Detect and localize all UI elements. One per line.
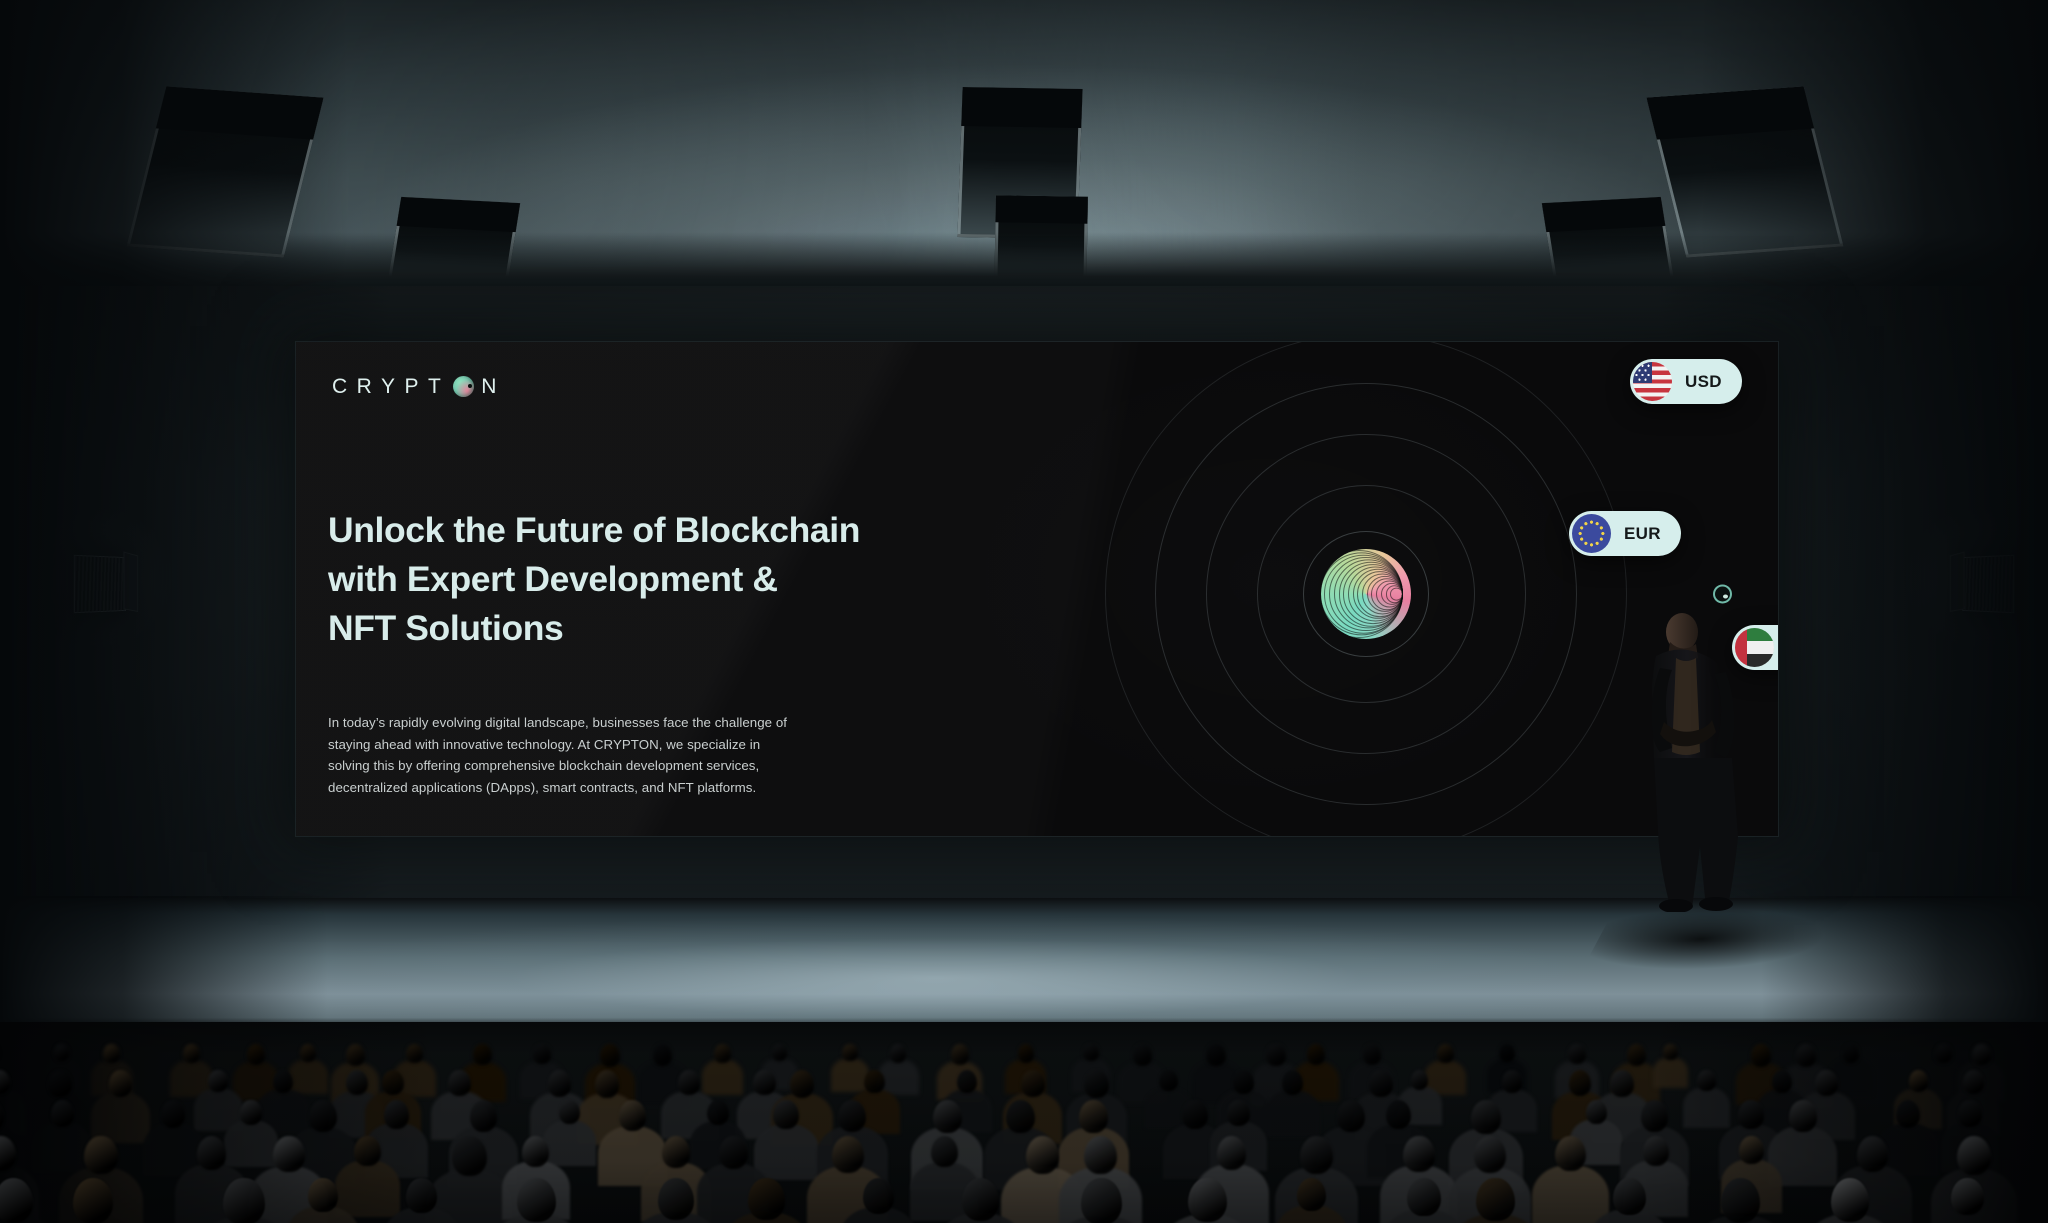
us-flag-icon [1633, 362, 1672, 401]
audience-member-head [1337, 1100, 1365, 1132]
audience-member-head [1627, 1044, 1646, 1066]
audience-member-head [753, 1070, 775, 1095]
audience-member-head [678, 1070, 700, 1095]
audience-member-head [662, 1136, 690, 1168]
audience-member-head [1282, 1070, 1304, 1095]
audience-member-head [1789, 1100, 1817, 1132]
ceiling-vignette [0, 0, 2048, 292]
audience-member-head [1663, 1044, 1677, 1060]
audience-member-head [1958, 1100, 1981, 1127]
audience-member-head [1188, 1178, 1227, 1222]
audience-member-head [1474, 1136, 1507, 1173]
audience-member-head [1437, 1044, 1454, 1063]
audience-member-head [308, 1178, 338, 1212]
audience-member-head [1386, 1100, 1411, 1129]
audience-member-head [1499, 1044, 1515, 1062]
orb-eye-dot [1715, 587, 1730, 602]
currency-badge-label: EUR [1624, 525, 1661, 542]
logo-text-right: N [481, 376, 506, 397]
audience-member-head [346, 1044, 365, 1066]
audience-member-head [223, 1178, 264, 1223]
audience-member-head [619, 1100, 647, 1131]
audience-member-head [842, 1044, 857, 1061]
audience-member-head [406, 1178, 437, 1213]
audience-member-head [1972, 1044, 1991, 1065]
audience-member-head [73, 1178, 114, 1223]
audience-member-head [1738, 1100, 1764, 1129]
audience-member-head [1159, 1070, 1178, 1091]
audience-member-head [1586, 1100, 1607, 1124]
audience-member-head [1084, 1136, 1117, 1174]
audience-member-head [595, 1070, 619, 1098]
audience-member-head [54, 1044, 69, 1061]
audience-member-head [933, 1100, 962, 1133]
audience-member-head [832, 1136, 864, 1173]
audience-member-head [719, 1136, 748, 1169]
audience-member-head [183, 1044, 200, 1063]
audience-member-head [273, 1070, 294, 1093]
audience-member-head [1796, 1044, 1816, 1067]
currency-badge-usd[interactable]: USD [1630, 359, 1742, 404]
audience-member-head [48, 1070, 71, 1097]
audience-member-head [522, 1136, 549, 1167]
audience-member-head [161, 1100, 185, 1128]
audience-member-head [470, 1100, 498, 1132]
audience-member-head [962, 1178, 999, 1221]
audience-member-head [890, 1044, 907, 1063]
audience-member-head [1857, 1136, 1888, 1172]
audience-member-head [1643, 1136, 1669, 1166]
audience-member-head [773, 1100, 799, 1129]
audience-member-head [452, 1136, 487, 1176]
audience-member-head [772, 1044, 787, 1061]
audience-member-head [1403, 1136, 1434, 1172]
audience-member-head [1568, 1044, 1586, 1064]
logo-text-left: CRYPT [332, 376, 450, 397]
audience-member-head [1081, 1178, 1122, 1223]
audience-member-head [517, 1178, 556, 1222]
audience-member-head [864, 1070, 885, 1093]
audience-member-head [1407, 1178, 1441, 1216]
audience-member-head [406, 1044, 423, 1063]
audience-member-head [1018, 1044, 1034, 1063]
audience-member-head [1610, 1070, 1634, 1097]
audience-member-head [1555, 1136, 1586, 1171]
audience-member-head [1843, 1044, 1860, 1063]
audience-member-head [1217, 1136, 1247, 1170]
audience-member-head [84, 1136, 117, 1174]
audience-member-head [1963, 1070, 1984, 1094]
audience-member-head [658, 1178, 695, 1220]
audience-member-head [1182, 1100, 1208, 1129]
audience-member-head [951, 1044, 969, 1065]
crypton-logo[interactable]: CRYPT N [332, 376, 506, 397]
audience-member-head [600, 1044, 620, 1067]
audience-member-head [240, 1100, 262, 1125]
audience-member-head [1233, 1070, 1254, 1094]
audience-member-head [1083, 1044, 1098, 1061]
audience-member-head [863, 1178, 894, 1214]
audience-member-head [273, 1136, 305, 1172]
audience [0, 1022, 2048, 1223]
audience-member-head [1502, 1070, 1522, 1093]
audience-member-head [1896, 1100, 1921, 1128]
headline-line-2: with Expert Development & [328, 555, 1018, 604]
gradient-sphere-icon [453, 376, 474, 397]
audience-member-head [559, 1100, 580, 1124]
audience-member-head [1739, 1136, 1764, 1164]
audience-member-head [1909, 1070, 1928, 1092]
audience-member-head [1133, 1044, 1152, 1066]
currency-badge-eur[interactable]: EUR [1569, 511, 1681, 556]
audience-member-head [1569, 1070, 1592, 1096]
audience-member-head [1300, 1136, 1333, 1174]
stage-floor-vignette [0, 896, 2048, 1030]
presenter-silhouette [1640, 612, 1750, 912]
currency-badge-label: USD [1685, 373, 1722, 390]
audience-member-head [957, 1070, 977, 1093]
audience-member-head [300, 1044, 316, 1062]
audience-member-head [51, 1100, 74, 1127]
audience-member-head [838, 1100, 866, 1132]
slide-body-text: In today’s rapidly evolving digital land… [328, 712, 798, 798]
audience-member-head [197, 1136, 227, 1170]
currency-orbit-diagram: USDGBPEURCHUAE [996, 342, 1736, 836]
audience-member-head [247, 1044, 265, 1065]
audience-member-head [714, 1044, 731, 1063]
audience-member-head [346, 1070, 368, 1095]
audience-member-head [1772, 1070, 1792, 1093]
audience-member-head [1369, 1070, 1393, 1097]
audience-member-head [1721, 1178, 1761, 1223]
audience-member-head [1935, 1044, 1952, 1063]
audience-member-head [1831, 1178, 1870, 1222]
audience-member-head [1613, 1178, 1646, 1215]
audience-member-head [1079, 1100, 1108, 1133]
audience-member-head [1006, 1100, 1035, 1133]
audience-member-head [354, 1136, 380, 1166]
headline-line-3: NFT Solutions [328, 604, 1018, 653]
audience-member-head [1641, 1100, 1669, 1132]
audience-member-head [707, 1100, 729, 1125]
presentation-screen: CRYPT N Unlock the Future of Blockchain … [296, 342, 1778, 836]
audience-member-head [533, 1044, 551, 1064]
audience-member-head [1026, 1136, 1060, 1174]
auditorium-scene: CRYPT N Unlock the Future of Blockchain … [0, 0, 2048, 1223]
slide-headline: Unlock the Future of Blockchain with Exp… [328, 506, 1018, 653]
audience-member-head [103, 1044, 120, 1063]
crypton-orb-icon [1321, 549, 1411, 639]
audience-member-head [109, 1070, 132, 1097]
audience-member-head [1363, 1044, 1381, 1065]
audience-member-head [309, 1100, 338, 1132]
audience-member-head [1697, 1070, 1716, 1091]
eu-flag-icon [1572, 514, 1611, 553]
audience-member-head [1957, 1136, 1991, 1175]
audience-member-head [448, 1070, 471, 1096]
audience-member-head [1021, 1070, 1045, 1097]
audience-member-head [382, 1070, 404, 1095]
audience-member-head [473, 1044, 492, 1065]
audience-member-head [790, 1070, 815, 1098]
audience-member-head [548, 1070, 571, 1097]
audience-member-head [1227, 1100, 1250, 1126]
audience-member-head [1206, 1044, 1225, 1066]
audience-member-head [748, 1178, 784, 1220]
audience-member-head [1476, 1178, 1514, 1221]
audience-member-head [1411, 1070, 1429, 1090]
orb-spiral-arcs [1321, 549, 1411, 639]
audience-member-head [1266, 1044, 1286, 1066]
audience-member-head [653, 1044, 673, 1066]
audience-member-head [1815, 1070, 1838, 1096]
audience-member-head [1471, 1100, 1501, 1134]
headline-line-1: Unlock the Future of Blockchain [328, 506, 1018, 555]
audience-member-head [931, 1136, 958, 1167]
audience-member-head [1297, 1178, 1326, 1211]
audience-member-head [1751, 1044, 1771, 1067]
audience-member-head [384, 1100, 409, 1129]
audience-member-head [1307, 1044, 1325, 1065]
audience-member-head [1084, 1070, 1108, 1098]
audience-member-head [1951, 1178, 1984, 1215]
audience-member-head [208, 1070, 228, 1092]
